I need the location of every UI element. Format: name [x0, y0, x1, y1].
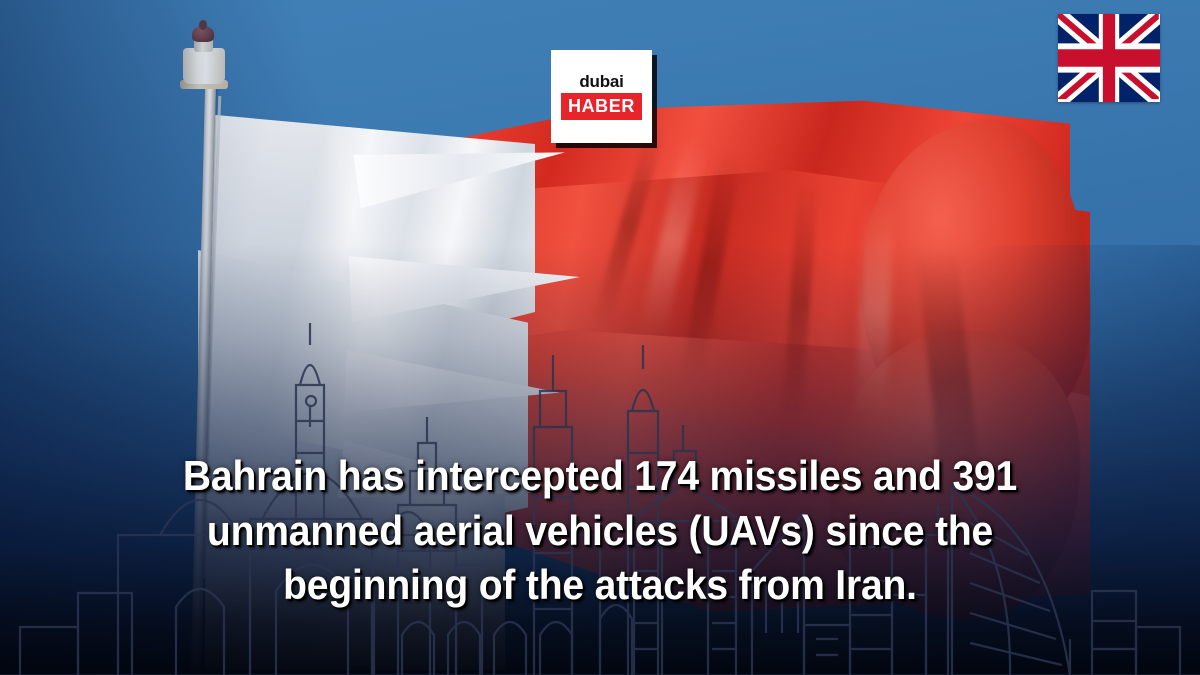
logo-word-haber: HABER	[561, 93, 642, 120]
uk-flag-icon[interactable]	[1058, 14, 1160, 102]
headline-text: Bahrain has intercepted 174 missiles and…	[98, 449, 1102, 613]
news-card-graphic: dubai HABER Bahrain has intercepted 174 …	[0, 0, 1200, 675]
logo-word-dubai: dubai	[579, 73, 623, 90]
dubai-haber-logo[interactable]: dubai HABER	[551, 50, 652, 143]
